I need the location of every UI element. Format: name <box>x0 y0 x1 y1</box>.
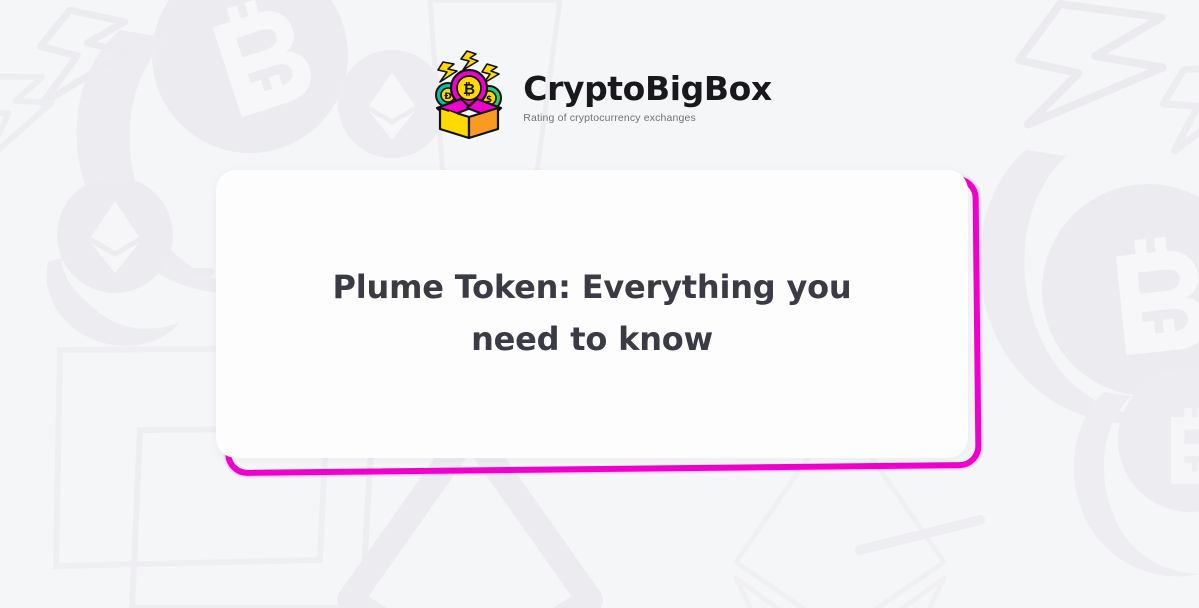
hero-card-face: Plume Token: Everything you need to know <box>216 170 968 458</box>
page-title-line-1: Plume Token: Everything you <box>333 268 852 306</box>
crypto-box-logo-icon: Ð $ ₿ <box>427 48 511 142</box>
logo-text-block: CryptoBigBox Rating of cryptocurrency ex… <box>523 66 771 124</box>
logo-lockup[interactable]: Ð $ ₿ <box>427 48 771 142</box>
page-title: Plume Token: Everything you need to know <box>309 262 876 366</box>
crescent-watermark <box>47 258 180 346</box>
watermark-dash <box>192 268 214 276</box>
brand-tagline: Rating of cryptocurrency exchanges <box>523 112 696 124</box>
watermark-dash <box>860 520 980 550</box>
site-header: Ð $ ₿ <box>0 48 1199 142</box>
svg-text:₿: ₿ <box>463 80 475 98</box>
ethereum-coin-watermark <box>57 177 173 293</box>
crescent-watermark <box>980 150 1166 423</box>
bitcoin-coin-watermark <box>1032 174 1199 407</box>
bitcoin-coin-watermark <box>1118 368 1199 512</box>
crescent-watermark <box>1074 392 1199 577</box>
hero-card: Plume Token: Everything you need to know <box>216 170 982 478</box>
page-title-line-2: need to know <box>471 320 713 358</box>
brand-wordmark: CryptoBigBox <box>523 72 771 105</box>
